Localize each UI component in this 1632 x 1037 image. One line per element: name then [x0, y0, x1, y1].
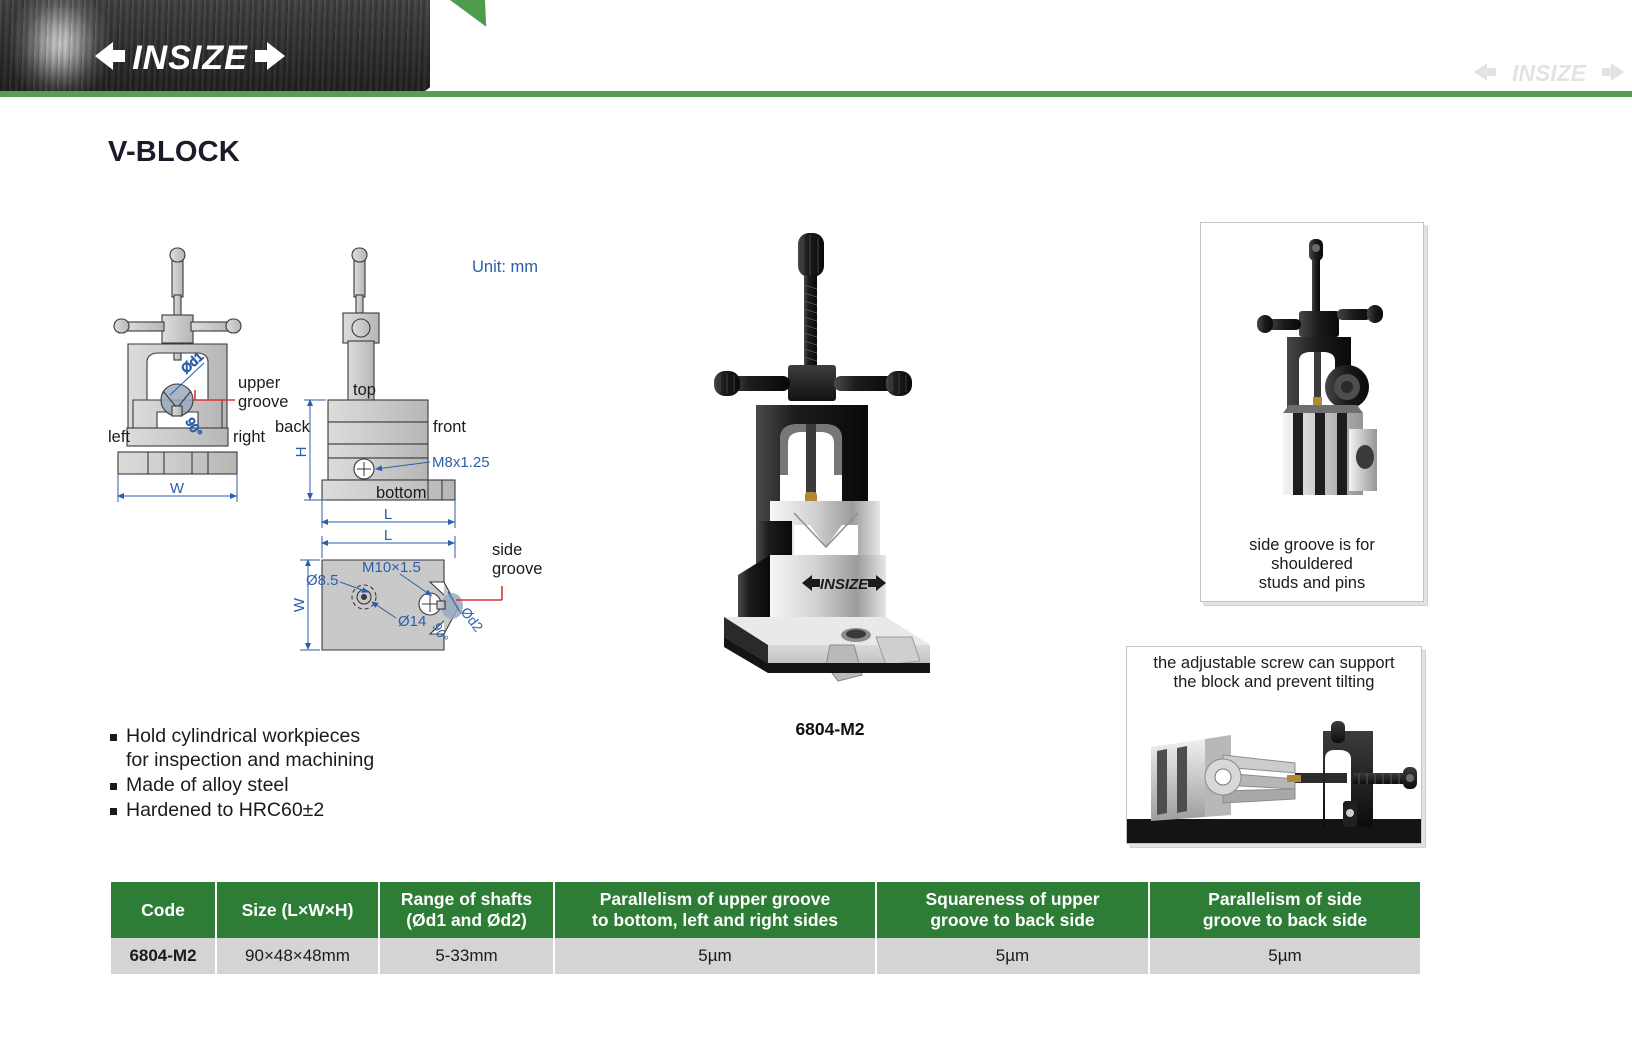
- label-right: right: [233, 428, 266, 446]
- dim-l-plan-label: L: [384, 527, 392, 544]
- technical-drawings: Ød1 90° upper groove left right W top: [100, 240, 660, 665]
- list-item: Hardened to HRC60±2: [110, 798, 530, 822]
- feature-text: Made of alloy steel: [126, 773, 289, 797]
- dim-w-plan-label: W: [291, 597, 308, 612]
- column-header-code: Code: [111, 882, 216, 938]
- bullet-square-icon: [110, 808, 117, 815]
- list-item: Made of alloy steel: [110, 773, 530, 797]
- dim-w-front-label: W: [170, 480, 185, 497]
- page-title: V-BLOCK: [108, 136, 240, 169]
- feature-text: Hardened to HRC60±2: [126, 798, 324, 822]
- label-side-groove: side groove: [492, 541, 542, 578]
- cell-size: 90×48×48mm: [216, 938, 379, 974]
- label-top: top: [353, 381, 376, 399]
- dim-l-side-label: L: [384, 506, 392, 523]
- caption-adjustable-screw: the adjustable screw can support the blo…: [1127, 654, 1421, 692]
- cell-parallelism-side: 5µm: [1149, 938, 1420, 974]
- page-header: INSIZE INSIZE: [0, 0, 1632, 97]
- cell-squareness: 5µm: [876, 938, 1149, 974]
- insize-logo: INSIZE: [95, 33, 285, 84]
- label-unit: Unit: mm: [472, 258, 538, 276]
- label-hole-14: Ø14: [398, 613, 426, 630]
- specification-table: Code Size (L×W×H) Range of shafts (Ød1 a…: [111, 882, 1420, 974]
- header-green-rule: [0, 91, 1632, 97]
- list-item: Hold cylindrical workpieces for inspecti…: [110, 724, 530, 772]
- label-back: back: [275, 418, 311, 436]
- column-header-squareness: Squareness of upper groove to back side: [876, 882, 1149, 938]
- svg-text:INSIZE: INSIZE: [132, 39, 248, 77]
- dim-h-label: H: [293, 447, 310, 458]
- feature-text: Hold cylindrical workpieces for inspecti…: [126, 724, 374, 772]
- label-thread-m10: M10×1.5: [362, 559, 421, 576]
- column-header-size: Size (L×W×H): [216, 882, 379, 938]
- svg-text:INSIZE: INSIZE: [1512, 60, 1587, 86]
- insize-watermark-logo: INSIZE: [1474, 57, 1624, 92]
- column-header-parallelism-upper: Parallelism of upper groove to bottom, l…: [554, 882, 876, 938]
- column-header-parallelism-side: Parallelism of side groove to back side: [1149, 882, 1420, 938]
- panel-side-groove: side groove is for shouldered studs and …: [1200, 222, 1424, 602]
- svg-text:INSIZE: INSIZE: [820, 576, 869, 593]
- product-code-label: 6804-M2: [690, 719, 970, 740]
- caption-side-groove: side groove is for shouldered studs and …: [1201, 536, 1423, 593]
- column-header-range: Range of shafts (Ød1 and Ød2): [379, 882, 554, 938]
- cell-parallelism-upper: 5µm: [554, 938, 876, 974]
- side-groove-photo: [1231, 233, 1401, 518]
- label-thread-m8: M8x1.25: [432, 454, 490, 471]
- label-upper-groove: upper groove: [238, 374, 288, 411]
- drawing-front-view: [114, 248, 241, 474]
- adjustable-screw-photo: [1127, 703, 1421, 848]
- feature-list: Hold cylindrical workpieces for inspecti…: [110, 724, 530, 823]
- table-row: 6804-M2 90×48×48mm 5-33mm 5µm 5µm 5µm: [111, 938, 1420, 974]
- label-left: left: [108, 428, 130, 446]
- bullet-square-icon: [110, 734, 117, 741]
- cell-code: 6804-M2: [111, 938, 216, 974]
- table-header-row: Code Size (L×W×H) Range of shafts (Ød1 a…: [111, 882, 1420, 938]
- header-white-arrow: [425, 0, 1632, 91]
- panel-adjustable-screw: the adjustable screw can support the blo…: [1126, 646, 1422, 844]
- cell-range: 5-33mm: [379, 938, 554, 974]
- bullet-square-icon: [110, 783, 117, 790]
- label-bottom: bottom: [376, 484, 426, 502]
- label-hole-85: Ø8.5: [306, 572, 339, 589]
- product-photo: INSIZE: [690, 225, 970, 700]
- label-front: front: [433, 418, 466, 436]
